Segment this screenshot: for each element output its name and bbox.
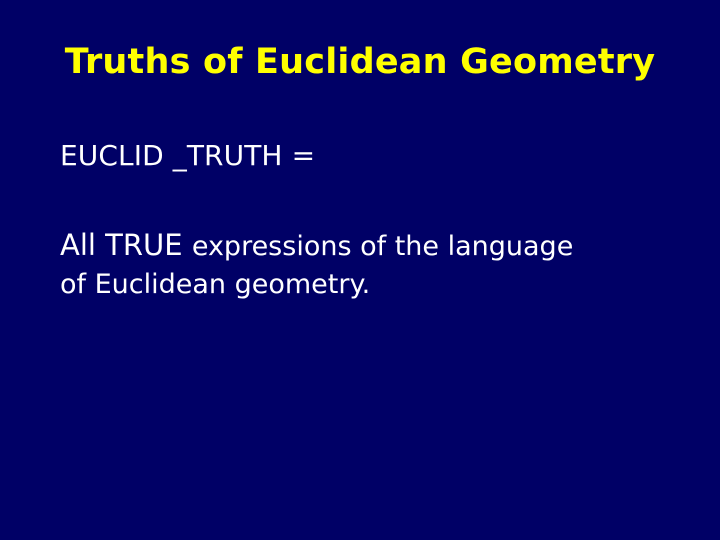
- slide-body: EUCLID _TRUTH = All TRUE expressions of …: [60, 138, 660, 304]
- paragraph-line-1-rest: expressions of the language: [192, 231, 574, 262]
- definition-paragraph: All TRUE expressions of the language of …: [60, 226, 660, 304]
- paragraph-line-1: All TRUE expressions of the language: [60, 226, 660, 266]
- paragraph-lead-text: All TRUE: [60, 228, 192, 262]
- slide-canvas: Truths of Euclidean Geometry EUCLID _TRU…: [0, 0, 720, 540]
- page-title: Truths of Euclidean Geometry: [0, 42, 720, 82]
- body-spacer: [60, 174, 660, 226]
- paragraph-line-2: of Euclidean geometry.: [60, 266, 660, 304]
- definition-line: EUCLID _TRUTH =: [60, 138, 660, 174]
